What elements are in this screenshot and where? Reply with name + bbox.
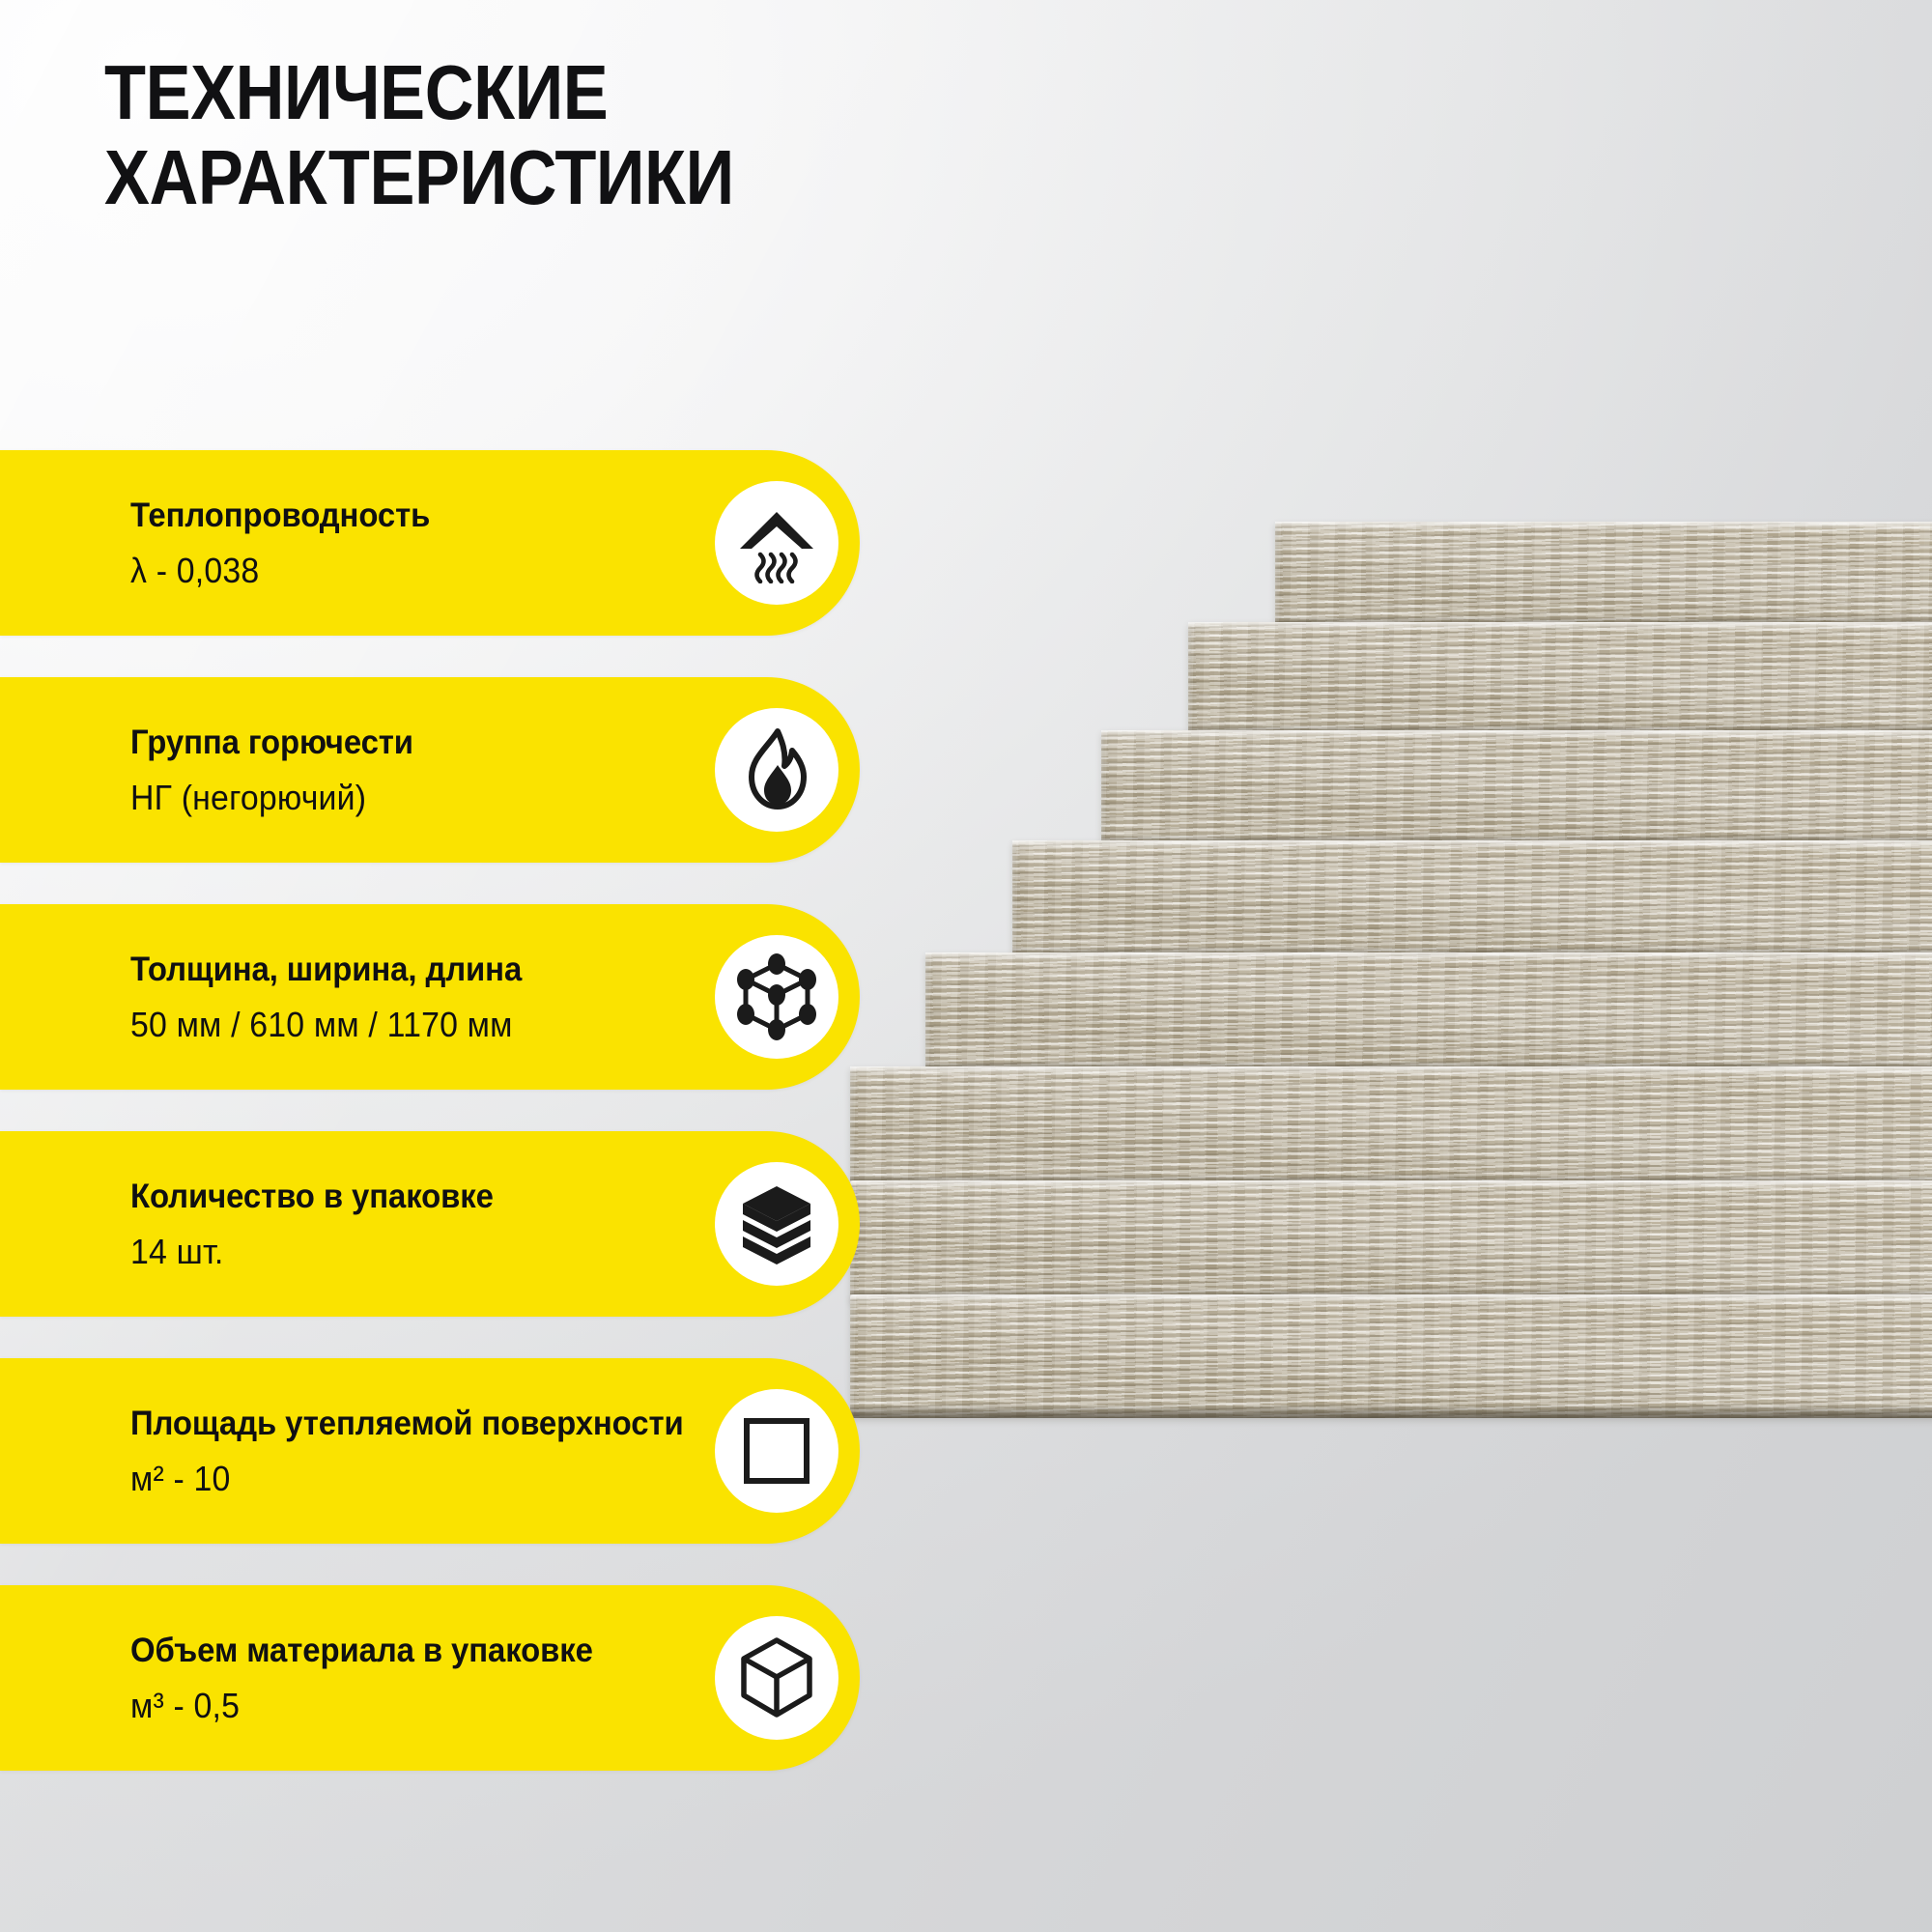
wool-slab <box>1012 840 1932 960</box>
wool-slab <box>850 1294 1932 1418</box>
wool-slab <box>850 1180 1932 1302</box>
page-title: ТЕХНИЧЕСКИЕ ХАРАКТЕРИСТИКИ <box>104 50 1039 220</box>
spec-row-quantity-per-pack[interactable]: Количество в упаковке 14 шт. <box>0 1131 860 1317</box>
spec-label: Объем материала в упаковке <box>130 1634 593 1667</box>
wool-slab <box>1275 522 1932 630</box>
spec-label: Группа горючести <box>130 725 413 759</box>
spec-label: Теплопроводность <box>130 498 430 532</box>
spec-row-dimensions[interactable]: Толщина, ширина, длина 50 мм / 610 мм / … <box>0 904 860 1090</box>
poster-canvas: ТЕХНИЧЕСКИЕ ХАРАКТЕРИСТИКИ Теплопроводно… <box>0 0 1932 1932</box>
cube-outline-icon <box>715 1616 838 1740</box>
spec-value: м² - 10 <box>130 1462 684 1496</box>
wool-slab <box>1101 730 1932 848</box>
wool-slab <box>925 952 1932 1074</box>
stacked-layers-icon <box>715 1162 838 1286</box>
flame-icon <box>715 708 838 832</box>
spec-row-coverage-area[interactable]: Площадь утепляемой поверхности м² - 10 <box>0 1358 860 1544</box>
spec-text-block: Площадь утепляемой поверхности м² - 10 <box>130 1406 719 1496</box>
heat-conductivity-icon <box>715 481 838 605</box>
spec-value: НГ (негорючий) <box>130 781 413 815</box>
spec-text-block: Группа горючести НГ (негорючий) <box>130 725 432 815</box>
spec-text-block: Теплопроводность λ - 0,038 <box>130 498 449 588</box>
product-image-mineral-wool-stack <box>850 522 1932 1449</box>
wool-slab <box>850 1066 1932 1188</box>
spec-row-flammability-group[interactable]: Группа горючести НГ (негорючий) <box>0 677 860 863</box>
square-outline-icon <box>715 1389 838 1513</box>
spec-value: м³ - 0,5 <box>130 1689 593 1723</box>
spec-text-block: Объем материала в упаковке м³ - 0,5 <box>130 1634 622 1723</box>
spec-value: λ - 0,038 <box>130 554 430 588</box>
spec-text-block: Количество в упаковке 14 шт. <box>130 1179 517 1269</box>
spec-row-thermal-conductivity[interactable]: Теплопроводность λ - 0,038 <box>0 450 860 636</box>
spec-text-block: Толщина, ширина, длина 50 мм / 610 мм / … <box>130 952 547 1042</box>
wool-slab <box>1188 622 1932 738</box>
spec-label: Толщина, ширина, длина <box>130 952 522 986</box>
spec-value: 50 мм / 610 мм / 1170 мм <box>130 1008 522 1042</box>
spec-label: Площадь утепляемой поверхности <box>130 1406 684 1440</box>
node-cube-icon <box>715 935 838 1059</box>
spec-value: 14 шт. <box>130 1235 494 1269</box>
spec-label: Количество в упаковке <box>130 1179 494 1213</box>
spec-row-volume-per-pack[interactable]: Объем материала в упаковке м³ - 0,5 <box>0 1585 860 1771</box>
